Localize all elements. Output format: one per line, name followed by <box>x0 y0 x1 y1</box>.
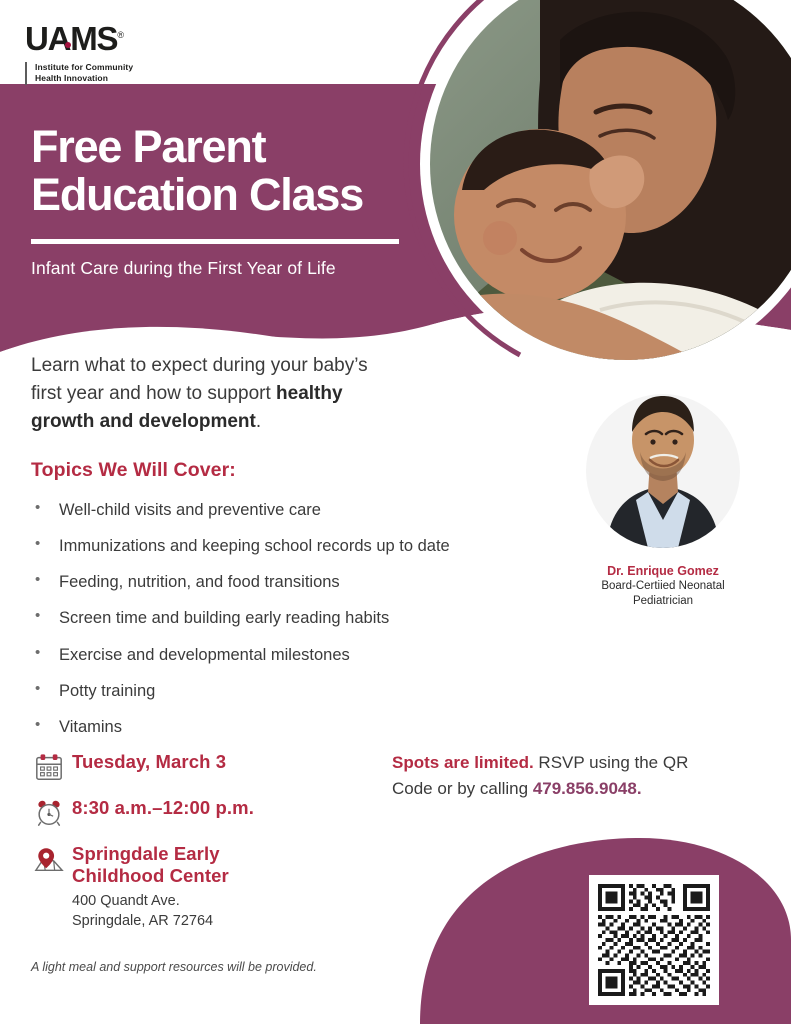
alarm-clock-icon <box>26 796 72 828</box>
uams-logo: UAMS® Institute for Community Health Inn… <box>25 22 185 85</box>
list-item: Potty training <box>31 681 551 702</box>
event-location-row: Springdale Early Childhood Center 400 Qu… <box>26 842 356 931</box>
intro-paragraph: Learn what to expect during your baby’s … <box>31 352 391 436</box>
rsvp-period: . <box>637 779 642 798</box>
speaker-caption: Dr. Enrique Gomez Board-Certiied Neonata… <box>575 564 751 608</box>
logo-subtitle-line1: Institute for Community <box>35 62 185 73</box>
flyer-page: UAMS® Institute for Community Health Inn… <box>0 0 791 1024</box>
event-address-line2: Springdale, AR 72764 <box>72 912 229 931</box>
page-title: Free Parent Education Class <box>31 123 421 219</box>
speaker-role-line2: Pediatrician <box>575 594 751 609</box>
event-details: Tuesday, March 3 8:30 a.m.–12:00 p.m. <box>26 750 356 945</box>
logo-dot-icon <box>65 42 71 48</box>
topics-list: Well-child visits and preventive care Im… <box>31 500 551 753</box>
headline-block: Free Parent Education Class Infant Care … <box>31 123 421 279</box>
qr-code[interactable] <box>589 875 719 1005</box>
logo-wordmark: UAMS® <box>25 22 123 55</box>
event-date-row: Tuesday, March 3 <box>26 750 356 782</box>
title-line-2: Education Class <box>31 169 363 220</box>
logo-wordmark-text: UAMS <box>25 20 117 57</box>
event-time-row: 8:30 a.m.–12:00 p.m. <box>26 796 356 828</box>
topics-heading: Topics We Will Cover: <box>31 459 236 482</box>
event-time-text: 8:30 a.m.–12:00 p.m. <box>72 796 254 819</box>
speaker-photo-content <box>586 394 740 548</box>
speaker-role: Board-Certiied Neonatal Pediatrician <box>575 579 751 608</box>
logo-subtitle-line2: Health Innovation <box>35 73 185 84</box>
event-address: 400 Quandt Ave. Springdale, AR 72764 <box>72 892 229 930</box>
list-item: Well-child visits and preventive care <box>31 500 551 521</box>
event-venue-line1: Springdale Early <box>72 843 229 865</box>
speaker-name: Dr. Enrique Gomez <box>575 564 751 578</box>
page-subtitle: Infant Care during the First Year of Lif… <box>31 258 421 279</box>
event-time-value: 8:30 a.m.–12:00 p.m. <box>72 797 254 819</box>
rsvp-block: Spots are limited. RSVP using the QR Cod… <box>392 750 722 801</box>
registered-mark: ® <box>117 30 122 40</box>
event-venue: Springdale Early Childhood Center <box>72 843 229 887</box>
title-divider <box>31 239 399 244</box>
list-item: Exercise and developmental milestones <box>31 645 551 666</box>
rsvp-highlight: Spots are limited. <box>392 753 534 772</box>
event-location-text: Springdale Early Childhood Center 400 Qu… <box>72 842 229 931</box>
list-item: Vitamins <box>31 717 551 738</box>
event-venue-line2: Childhood Center <box>72 865 229 887</box>
rsvp-phone: 479.856.9048 <box>533 779 637 798</box>
event-address-line1: 400 Quandt Ave. <box>72 892 229 911</box>
event-date-value: Tuesday, March 3 <box>72 751 226 773</box>
list-item: Immunizations and keeping school records… <box>31 536 551 557</box>
footnote: A light meal and support resources will … <box>31 960 317 974</box>
list-item: Screen time and building early reading h… <box>31 608 551 629</box>
qr-code-graphic <box>598 884 710 996</box>
logo-subtitle: Institute for Community Health Innovatio… <box>25 62 185 85</box>
calendar-icon <box>26 750 72 782</box>
intro-text-after: . <box>256 411 261 432</box>
map-pin-icon <box>26 842 72 876</box>
list-item: Feeding, nutrition, and food transitions <box>31 572 551 593</box>
event-date-text: Tuesday, March 3 <box>72 750 226 773</box>
speaker-role-line1: Board-Certiied Neonatal <box>575 579 751 594</box>
title-line-1: Free Parent <box>31 121 265 172</box>
